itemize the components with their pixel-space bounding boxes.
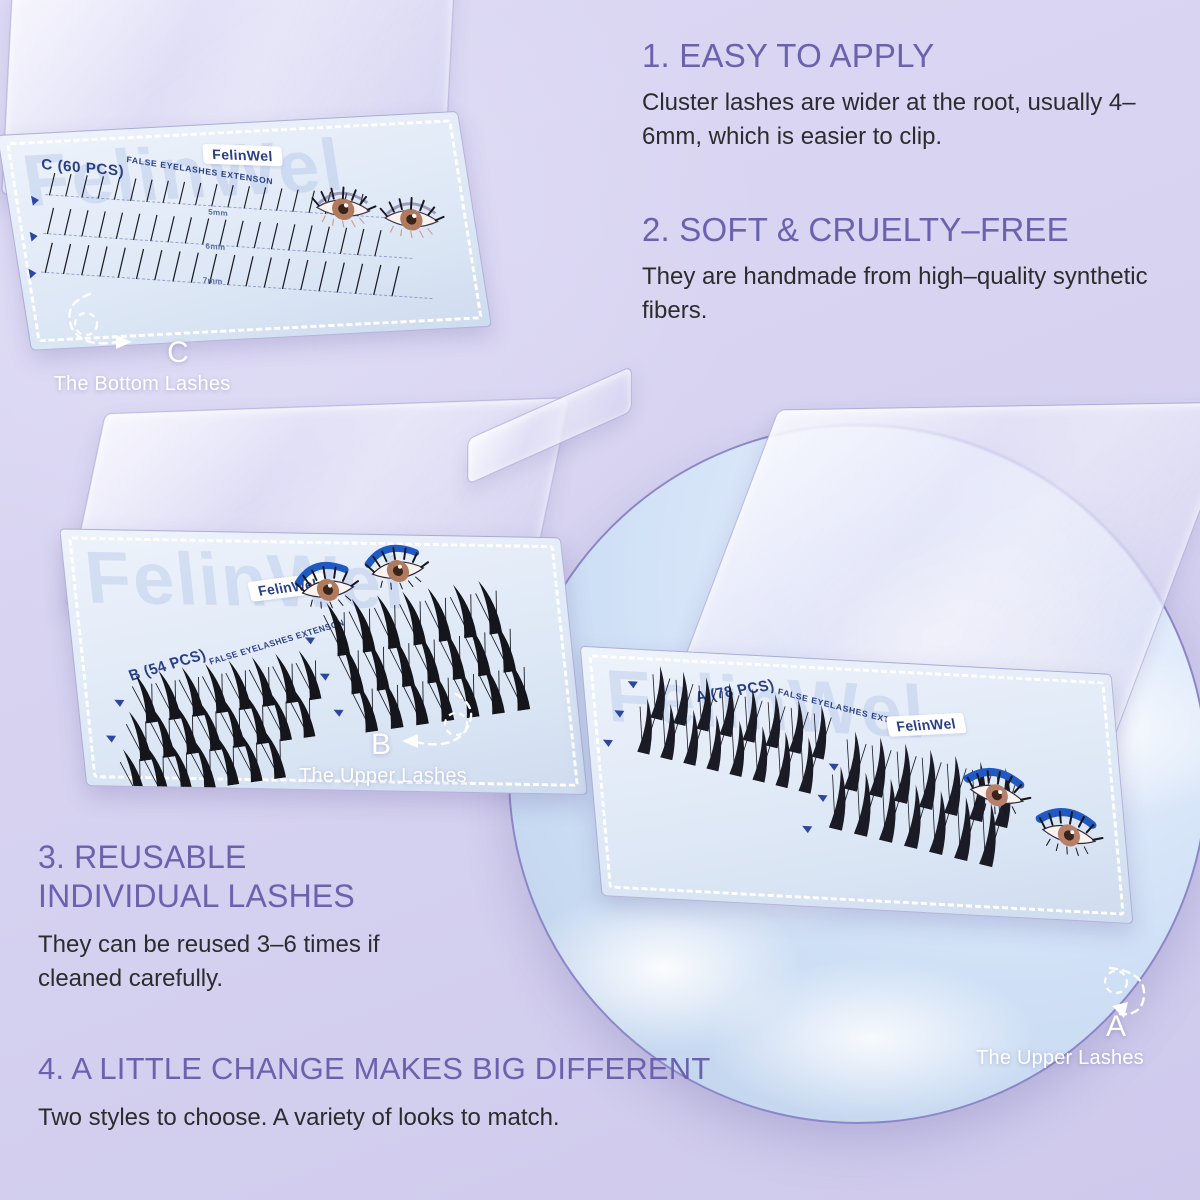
feature-3-heading-line1: 3. REUSABLE bbox=[38, 838, 488, 877]
feature-4: 4. A LITTLE CHANGE MAKES BIG DIFFERENT T… bbox=[38, 1052, 878, 1134]
row-marker bbox=[603, 740, 614, 748]
size-label-5mm: 5mm bbox=[208, 207, 228, 218]
size-label-7mm: 7mm bbox=[203, 276, 223, 287]
row-marker bbox=[28, 268, 37, 278]
feature-4-heading: 4. A LITTLE CHANGE MAKES BIG DIFFERENT bbox=[38, 1052, 878, 1087]
feature-4-body: Two styles to choose. A variety of looks… bbox=[38, 1101, 878, 1135]
eye-graphic-c bbox=[312, 173, 451, 248]
row-marker bbox=[30, 231, 39, 241]
infographic-canvas: FelinWel C (60 PCS) FALSE EYELASHES EXTE… bbox=[0, 0, 1200, 1200]
tray-a-brand-chip: FelinWel bbox=[886, 713, 967, 737]
feature-1-heading: 1. EASY TO APPLY bbox=[642, 38, 1182, 74]
callout-swirl-a-icon bbox=[1066, 966, 1186, 1032]
row-marker bbox=[334, 710, 345, 717]
row-marker bbox=[628, 681, 639, 689]
feature-2: 2. SOFT & CRUELTY–FREE They are handmade… bbox=[642, 212, 1182, 328]
size-label-6mm: 6mm bbox=[205, 242, 225, 253]
feature-2-heading: 2. SOFT & CRUELTY–FREE bbox=[642, 212, 1182, 248]
callout-a-sub: The Upper Lashes bbox=[950, 1047, 1170, 1070]
callout-a: A The Upper Lashes bbox=[950, 1012, 1170, 1070]
lash-tray-a: FelinWel A (78 PCS) FALSE EYELASHES EXTE… bbox=[580, 646, 1134, 924]
row-marker bbox=[802, 826, 813, 834]
callout-b: B The Upper Lashes bbox=[278, 730, 488, 788]
feature-3-body: They can be reused 3–6 times if cleaned … bbox=[38, 928, 468, 995]
callout-c: C The Bottom Lashes bbox=[32, 338, 252, 396]
row-marker bbox=[614, 710, 625, 718]
feature-3: 3. REUSABLE INDIVIDUAL LASHES They can b… bbox=[38, 838, 488, 995]
row-marker bbox=[106, 736, 117, 743]
callout-b-sub: The Upper Lashes bbox=[278, 765, 488, 788]
feature-1-body: Cluster lashes are wider at the root, us… bbox=[642, 86, 1162, 154]
callout-swirl-b-icon bbox=[364, 688, 484, 760]
tray-c-brand-chip: FelinWel bbox=[202, 144, 282, 166]
feature-1: 1. EASY TO APPLY Cluster lashes are wide… bbox=[642, 38, 1182, 154]
feature-3-heading-line2: INDIVIDUAL LASHES bbox=[38, 877, 488, 916]
row-marker bbox=[114, 700, 125, 707]
product-case-a: FelinWel A (78 PCS) FALSE EYELASHES EXTE… bbox=[557, 402, 1200, 955]
callout-c-sub: The Bottom Lashes bbox=[32, 373, 252, 396]
row-marker bbox=[305, 637, 316, 644]
callout-swirl-c-icon bbox=[52, 290, 182, 360]
feature-2-body: They are handmade from high–quality synt… bbox=[642, 260, 1162, 328]
